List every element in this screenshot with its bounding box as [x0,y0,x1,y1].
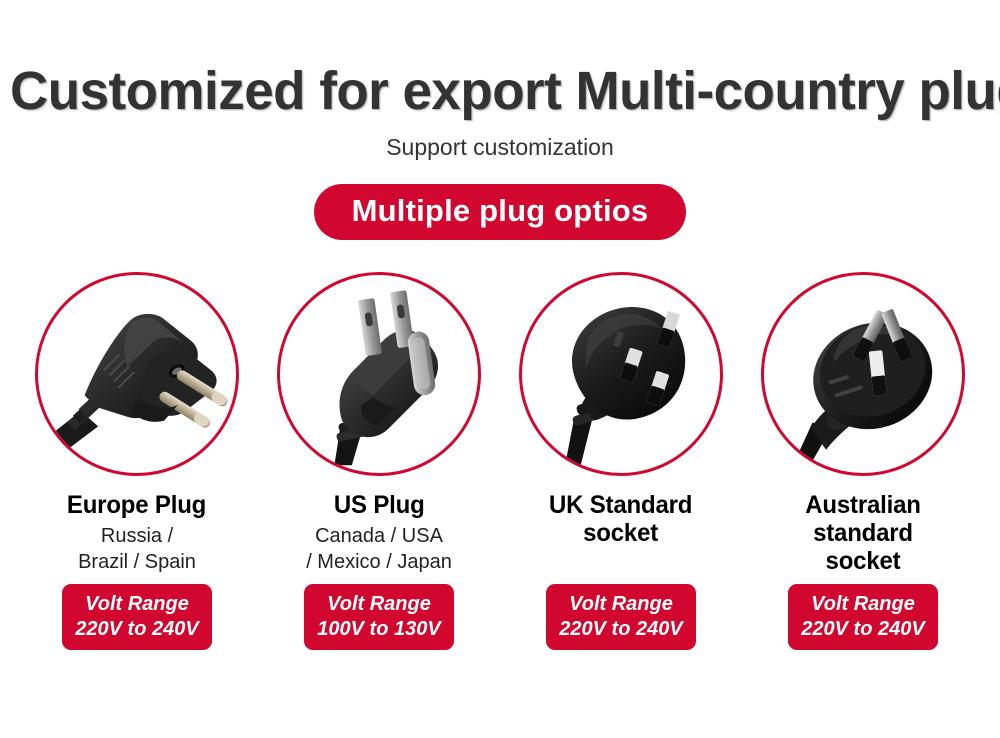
volt-range: 220V to 240V [801,617,924,642]
plug-name-line1: Australian standard [805,491,920,547]
plug-countries-line2: Brazil / Spain [78,551,196,573]
plug-name-us: US Plug [334,491,425,519]
plug-column-uk: UK Standard socket Volt Range 220V to 24… [506,272,736,692]
page-subtitle: Support customization [0,134,1000,161]
plug-countries-us: Canada / USA / Mexico / Japan [306,523,452,575]
australia-as3112-plug-icon [764,275,962,473]
plug-name-australia: Australian standard socket [753,491,974,575]
plug-circle-australia [761,272,965,476]
plug-countries-line2: / Mexico / Japan [306,551,452,573]
volt-range: 220V to 240V [75,617,198,642]
volt-label: Volt Range [569,592,673,617]
plug-countries-europe: Russia / Brazil / Spain [78,523,196,575]
us-nema-plug-icon [280,275,478,473]
plug-column-australia: Australian standard socket Volt Range 22… [748,272,978,692]
volt-badge-australia: Volt Range 220V to 240V [788,584,938,650]
volt-range: 220V to 240V [559,617,682,642]
volt-badge-uk: Volt Range 220V to 240V [546,584,696,650]
volt-label: Volt Range [327,592,431,617]
plug-countries-line1: Canada / USA [315,525,443,547]
volt-label: Volt Range [811,592,915,617]
europe-schuko-plug-icon [38,275,236,473]
pill-container: Multiple plug optios [0,184,1000,240]
volt-range: 100V to 130V [317,617,440,642]
page-title: Customized for export Multi-country plug [10,62,990,120]
plug-name-uk: UK Standard socket [549,491,692,547]
plug-circle-uk [519,272,723,476]
plug-circle-europe [35,272,239,476]
multiple-plug-options-badge: Multiple plug optios [314,184,687,240]
volt-badge-europe: Volt Range 220V to 240V [62,584,212,650]
plug-name-line2: socket [584,519,659,547]
uk-bs1363-plug-icon [522,275,720,473]
volt-label: Volt Range [85,592,189,617]
plug-name-line1: UK Standard [549,491,692,519]
plug-column-europe: Europe Plug Russia / Brazil / Spain Volt… [22,272,252,692]
plug-name-line2: socket [826,547,901,575]
plug-name-europe: Europe Plug [67,491,206,519]
promo-banner: Customized for export Multi-country plug… [0,0,1000,738]
plug-countries-line1: Russia / [101,525,173,547]
plug-columns: Europe Plug Russia / Brazil / Spain Volt… [0,272,1000,692]
volt-badge-us: Volt Range 100V to 130V [304,584,454,650]
plug-column-us: US Plug Canada / USA / Mexico / Japan Vo… [264,272,494,692]
plug-circle-us [277,272,481,476]
